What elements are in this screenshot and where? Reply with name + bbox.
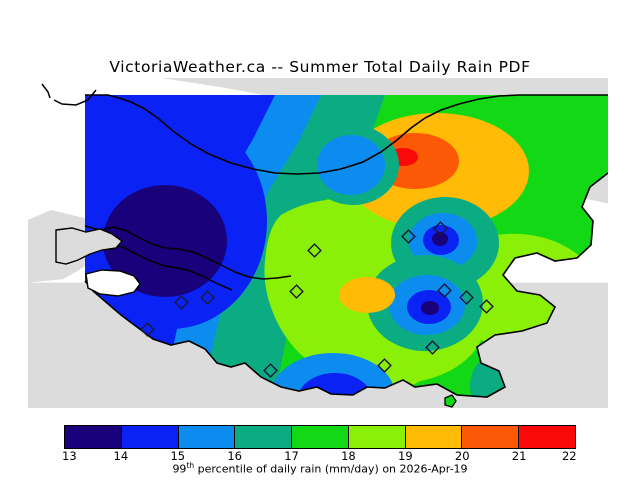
caption-rest: percentile of daily rain (mm/day) on 202… (194, 463, 467, 476)
map-panel[interactable] (28, 78, 608, 408)
colorbar-band-15-16[interactable] (179, 426, 236, 448)
station-marker[interactable] (264, 364, 277, 377)
colorbar-caption: 99th percentile of daily rain (mm/day) o… (0, 461, 640, 476)
station-marker[interactable] (201, 291, 214, 304)
colorbar-band-21-22[interactable] (519, 426, 575, 448)
colorbar-band-19-20[interactable] (406, 426, 463, 448)
page-title: VictoriaWeather.ca -- Summer Total Daily… (0, 58, 640, 76)
caption-value: 99 (172, 463, 186, 476)
station-marker[interactable] (480, 300, 493, 313)
colorbar-band-18-19[interactable] (349, 426, 406, 448)
station-markers[interactable] (85, 95, 608, 408)
station-marker[interactable] (402, 230, 415, 243)
station-marker[interactable] (378, 359, 391, 372)
station-marker[interactable] (460, 291, 473, 304)
colorbar-band-16-17[interactable] (235, 426, 292, 448)
station-marker[interactable] (290, 285, 303, 298)
station-marker[interactable] (426, 341, 439, 354)
colorbar-band-13-14[interactable] (65, 426, 122, 448)
station-marker[interactable] (308, 244, 321, 257)
station-marker[interactable] (438, 284, 451, 297)
colorbar-band-20-21[interactable] (462, 426, 519, 448)
station-marker[interactable] (175, 296, 188, 309)
weather-map-figure: VictoriaWeather.ca -- Summer Total Daily… (0, 0, 640, 480)
station-marker[interactable] (434, 222, 447, 235)
colorbar-band-17-18[interactable] (292, 426, 349, 448)
station-marker[interactable] (141, 323, 154, 336)
colorbar[interactable] (64, 425, 576, 449)
colorbar-band-14-15[interactable] (122, 426, 179, 448)
caption-ordinal: th (186, 461, 194, 470)
